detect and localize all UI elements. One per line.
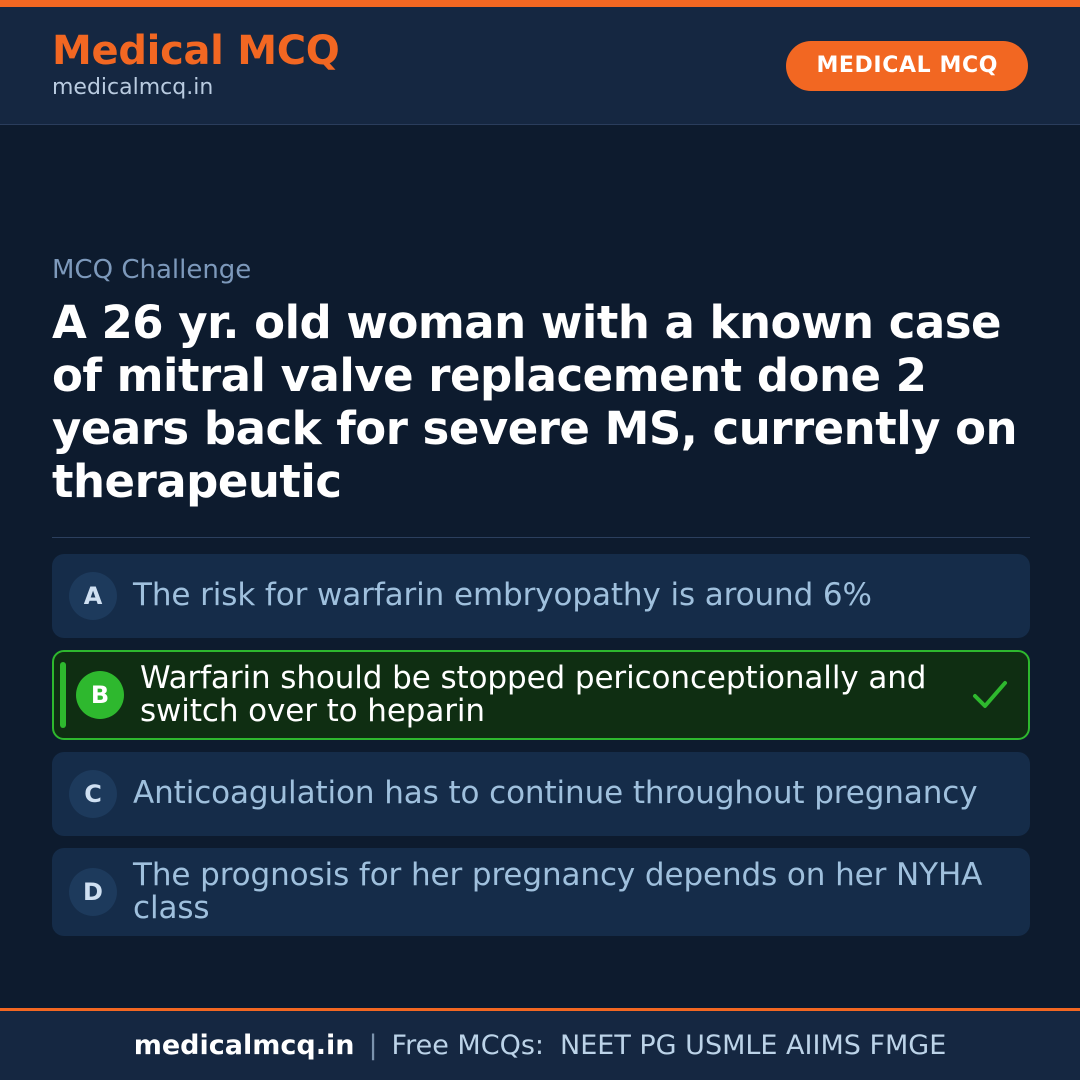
option-c[interactable]: C Anticoagulation has to continue throug… xyxy=(52,752,1030,836)
option-letter: A xyxy=(69,572,117,620)
footer-separator: | xyxy=(354,1032,391,1059)
checkmark-icon xyxy=(970,680,1010,710)
footer-label: Free MCQs: xyxy=(392,1032,544,1059)
option-text: The risk for warfarin embryopathy is aro… xyxy=(133,579,1011,612)
kicker-label: MCQ Challenge xyxy=(52,255,1028,286)
question-text: A 26 yr. old woman with a known case of … xyxy=(52,296,1027,508)
header-badge: MEDICAL MCQ xyxy=(786,41,1028,91)
footer: medicalmcq.in | Free MCQs: NEET PG USMLE… xyxy=(0,1008,1080,1080)
footer-exams: NEET PG USMLE AIIMS FMGE xyxy=(544,1032,946,1059)
header: Medical MCQ medicalmcq.in MEDICAL MCQ xyxy=(0,7,1080,125)
option-d[interactable]: D The prognosis for her pregnancy depend… xyxy=(52,848,1030,936)
option-a[interactable]: A The risk for warfarin embryopathy is a… xyxy=(52,554,1030,638)
top-accent-bar xyxy=(0,0,1080,7)
brand-block: Medical MCQ medicalmcq.in xyxy=(52,30,339,100)
mcq-card: Medical MCQ medicalmcq.in MEDICAL MCQ MC… xyxy=(0,0,1080,1080)
brand-title: Medical MCQ xyxy=(52,30,339,72)
options-list: A The risk for warfarin embryopathy is a… xyxy=(52,554,1030,937)
option-b[interactable]: B Warfarin should be stopped periconcept… xyxy=(52,650,1030,740)
footer-site: medicalmcq.in xyxy=(134,1032,355,1059)
main-content: MCQ Challenge A 26 yr. old woman with a … xyxy=(0,125,1080,1008)
option-letter: D xyxy=(69,868,117,916)
option-letter: C xyxy=(69,770,117,818)
option-text: Warfarin should be stopped periconceptio… xyxy=(140,662,960,728)
question-divider xyxy=(52,537,1030,538)
option-letter: B xyxy=(76,671,124,719)
brand-subtitle: medicalmcq.in xyxy=(52,76,339,100)
option-text: Anticoagulation has to continue througho… xyxy=(133,777,1011,810)
option-text: The prognosis for her pregnancy depends … xyxy=(133,859,1011,925)
